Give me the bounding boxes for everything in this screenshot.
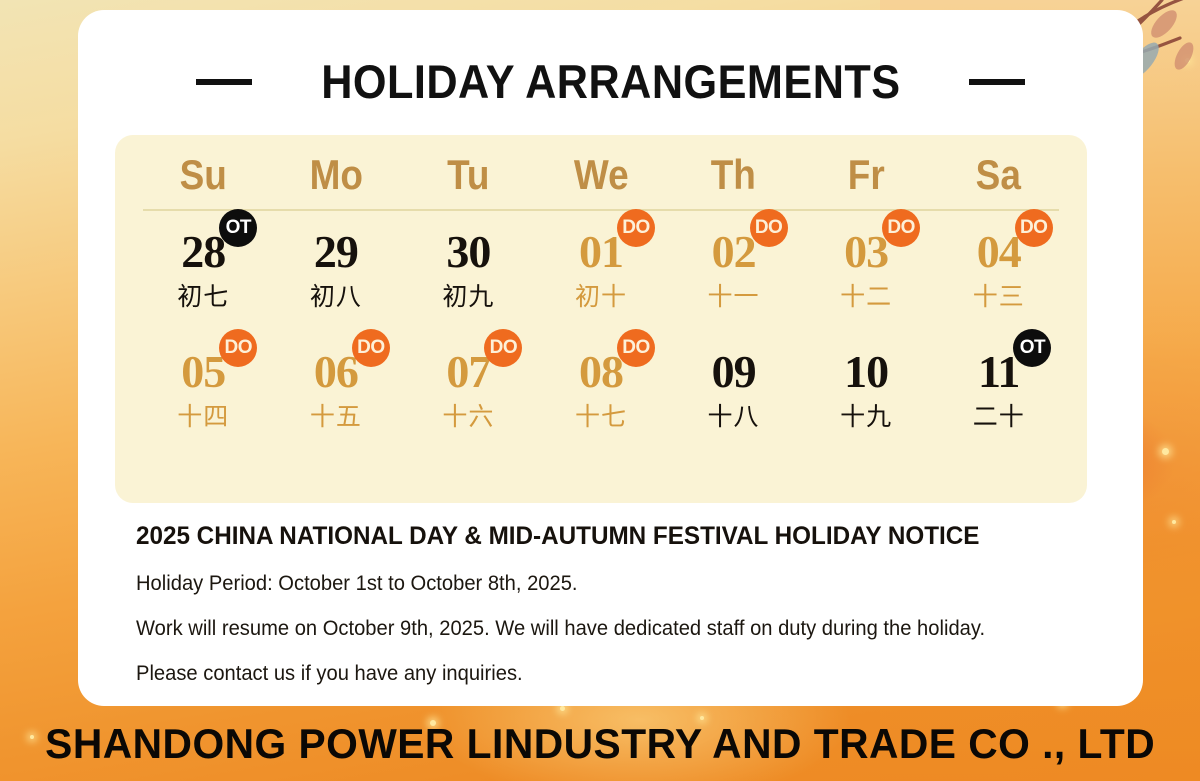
day-number: 06: [314, 346, 358, 397]
day-number: 30: [446, 226, 490, 277]
calendar-day-cell[interactable]: 08DO十七: [535, 343, 668, 463]
calendar-panel: Su Mo Tu We Th Fr Sa 28OT初七29初八30初九01DO初…: [115, 135, 1087, 503]
day-off-badge: DO: [484, 329, 522, 367]
day-number-wrap: 28OT: [181, 229, 225, 275]
day-number-wrap: 03DO: [844, 229, 888, 275]
calendar-day-cell[interactable]: 07DO十六: [402, 343, 535, 463]
calendar-day-cell[interactable]: 29初八: [270, 223, 403, 343]
lunar-date: 十四: [177, 404, 229, 429]
calendar-weekday-header: Su Mo Tu We Th Fr Sa: [137, 151, 1065, 207]
title-dash-right-icon: [969, 79, 1025, 85]
lunar-date: 十二: [840, 284, 892, 309]
calendar-day-cell[interactable]: 02DO十一: [667, 223, 800, 343]
calendar-day-cell[interactable]: 10十九: [800, 343, 933, 463]
company-name: SHANDONG POWER LINDUSTRY AND TRADE CO .,…: [45, 720, 1155, 768]
weekday-su: Su: [145, 151, 262, 199]
calendar-day-cell[interactable]: 04DO十三: [932, 223, 1065, 343]
weekday-mo: Mo: [278, 151, 395, 199]
day-off-badge: DO: [617, 209, 655, 247]
calendar-day-cell[interactable]: 03DO十二: [800, 223, 933, 343]
overtime-badge: OT: [1013, 329, 1051, 367]
day-number-wrap: 30: [446, 229, 490, 275]
weekday-sa: Sa: [940, 151, 1057, 199]
day-number-wrap: 04DO: [977, 229, 1021, 275]
lunar-date: 十五: [310, 404, 362, 429]
lunar-date: 初七: [177, 284, 229, 309]
day-number: 04: [977, 226, 1021, 277]
day-off-badge: DO: [219, 329, 257, 367]
weekday-fr: Fr: [808, 151, 925, 199]
day-number-wrap: 11OT: [978, 349, 1019, 395]
day-off-badge: DO: [617, 329, 655, 367]
day-number: 05: [181, 346, 225, 397]
notice-heading: 2025 CHINA NATIONAL DAY & MID-AUTUMN FES…: [136, 522, 1074, 551]
day-off-badge: DO: [352, 329, 390, 367]
lunar-date: 初九: [442, 284, 494, 309]
lunar-date: 十九: [840, 404, 892, 429]
sparkle-dot: [1162, 448, 1169, 455]
day-number: 28: [181, 226, 225, 277]
day-off-badge: DO: [1015, 209, 1053, 247]
lunar-date: 十一: [708, 284, 760, 309]
weekday-we: We: [543, 151, 660, 199]
calendar-day-cell[interactable]: 28OT初七: [137, 223, 270, 343]
notice-text-block: 2025 CHINA NATIONAL DAY & MID-AUTUMN FES…: [136, 522, 1103, 686]
weekday-tu: Tu: [410, 151, 527, 199]
title-dash-left-icon: [196, 79, 252, 85]
day-number-wrap: 29: [314, 229, 358, 275]
calendar-grid: 28OT初七29初八30初九01DO初十02DO十一03DO十二04DO十三05…: [137, 211, 1065, 463]
day-number-wrap: 05DO: [181, 349, 225, 395]
day-number-wrap: 07DO: [446, 349, 490, 395]
calendar-day-cell[interactable]: 30初九: [402, 223, 535, 343]
day-number: 03: [844, 226, 888, 277]
day-off-badge: DO: [882, 209, 920, 247]
calendar-day-cell[interactable]: 06DO十五: [270, 343, 403, 463]
calendar-day-cell[interactable]: 01DO初十: [535, 223, 668, 343]
day-number-wrap: 02DO: [712, 229, 756, 275]
day-number: 02: [712, 226, 756, 277]
lunar-date: 十三: [973, 284, 1025, 309]
lunar-date: 初十: [575, 284, 627, 309]
company-banner: SHANDONG POWER LINDUSTRY AND TRADE CO .,…: [0, 706, 1200, 781]
day-number-wrap: 09: [712, 349, 756, 395]
lunar-date: 十七: [575, 404, 627, 429]
day-number: 08: [579, 346, 623, 397]
lunar-date: 十八: [708, 404, 760, 429]
weekday-th: Th: [675, 151, 792, 199]
lunar-date: 十六: [442, 404, 494, 429]
day-number-wrap: 10: [844, 349, 888, 395]
day-number: 09: [712, 346, 756, 397]
lunar-date: 初八: [310, 284, 362, 309]
overtime-badge: OT: [219, 209, 257, 247]
day-number: 01: [579, 226, 623, 277]
day-number: 29: [314, 226, 358, 277]
day-off-badge: DO: [750, 209, 788, 247]
notice-line-2: Work will resume on October 9th, 2025. W…: [136, 617, 1064, 641]
day-number-wrap: 06DO: [314, 349, 358, 395]
notice-line-1: Holiday Period: October 1st to October 8…: [136, 572, 1064, 596]
calendar-day-cell[interactable]: 05DO十四: [137, 343, 270, 463]
notice-card: HOLIDAY ARRANGEMENTS Su Mo Tu We Th Fr S…: [78, 10, 1143, 706]
notice-line-3: Please contact us if you have any inquir…: [136, 662, 1064, 686]
day-number-wrap: 01DO: [579, 229, 623, 275]
page-title: HOLIDAY ARRANGEMENTS: [321, 54, 900, 109]
day-number-wrap: 08DO: [579, 349, 623, 395]
day-number: 10: [844, 346, 888, 397]
day-number: 07: [446, 346, 490, 397]
lunar-date: 二十: [973, 404, 1025, 429]
calendar-day-cell[interactable]: 11OT二十: [932, 343, 1065, 463]
title-row: HOLIDAY ARRANGEMENTS: [78, 54, 1143, 109]
calendar-day-cell[interactable]: 09十八: [667, 343, 800, 463]
sparkle-dot: [1172, 520, 1176, 524]
